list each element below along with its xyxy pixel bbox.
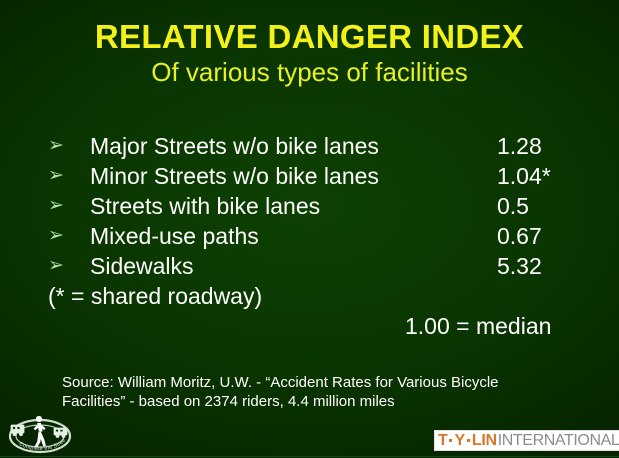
page-subtitle: Of various types of facilities: [0, 58, 619, 87]
list-item-label: Minor Streets w/o bike lanes: [90, 161, 379, 191]
arrow-bullet-icon: ➢: [48, 191, 70, 221]
source-citation: Source: William Moritz, U.W. - “Accident…: [62, 373, 592, 411]
list-item-value: 0.5: [497, 191, 529, 221]
tylin-dot-icon: [449, 439, 452, 442]
complete-the-streets-seal-icon: Complete the Streets: [4, 412, 76, 456]
list-item-label: Sidewalks: [90, 251, 194, 281]
source-line-2: Facilities” - based on 2374 riders, 4.4 …: [62, 392, 592, 411]
median-note: 1.00 = median: [405, 311, 551, 341]
arrow-bullet-icon: ➢: [48, 131, 70, 161]
bottom-divider: [0, 456, 619, 457]
arrow-bullet-icon: ➢: [48, 221, 70, 251]
danger-index-list: ➢ Major Streets w/o bike lanes 1.28 ➢ Mi…: [48, 131, 588, 281]
page-title: RELATIVE DANGER INDEX: [0, 20, 619, 53]
list-item-value: 1.04*: [497, 161, 551, 191]
list-item: ➢ Minor Streets w/o bike lanes 1.04*: [48, 161, 588, 191]
arrow-bullet-icon: ➢: [48, 161, 70, 191]
list-item-label: Streets with bike lanes: [90, 191, 320, 221]
list-item: ➢ Sidewalks 5.32: [48, 251, 588, 281]
list-item: ➢ Streets with bike lanes 0.5: [48, 191, 588, 221]
tylin-dot-icon: [467, 439, 470, 442]
list-item-value: 5.32: [497, 251, 542, 281]
list-item: ➢ Major Streets w/o bike lanes 1.28: [48, 131, 588, 161]
footnote-shared-roadway: (* = shared roadway): [48, 281, 262, 311]
tylin-international-logo: T Y LIN INTERNATIONAL: [434, 430, 619, 451]
list-item-label: Mixed-use paths: [90, 221, 259, 251]
tylin-international-text: INTERNATIONAL: [498, 433, 619, 449]
source-line-1: Source: William Moritz, U.W. - “Accident…: [62, 373, 592, 392]
tylin-letters-lin: LIN: [472, 433, 497, 449]
complete-the-streets-logo: Complete the Streets: [4, 412, 76, 456]
tylin-letter-t: T: [438, 433, 447, 449]
list-item-label: Major Streets w/o bike lanes: [90, 131, 379, 161]
list-item: ➢ Mixed-use paths 0.67: [48, 221, 588, 251]
list-item-value: 1.28: [497, 131, 542, 161]
arrow-bullet-icon: ➢: [48, 251, 70, 281]
tylin-wordmark: T Y LIN: [438, 433, 497, 449]
slide: RELATIVE DANGER INDEX Of various types o…: [0, 0, 619, 458]
tylin-letter-y: Y: [454, 433, 464, 449]
list-item-value: 0.67: [497, 221, 542, 251]
